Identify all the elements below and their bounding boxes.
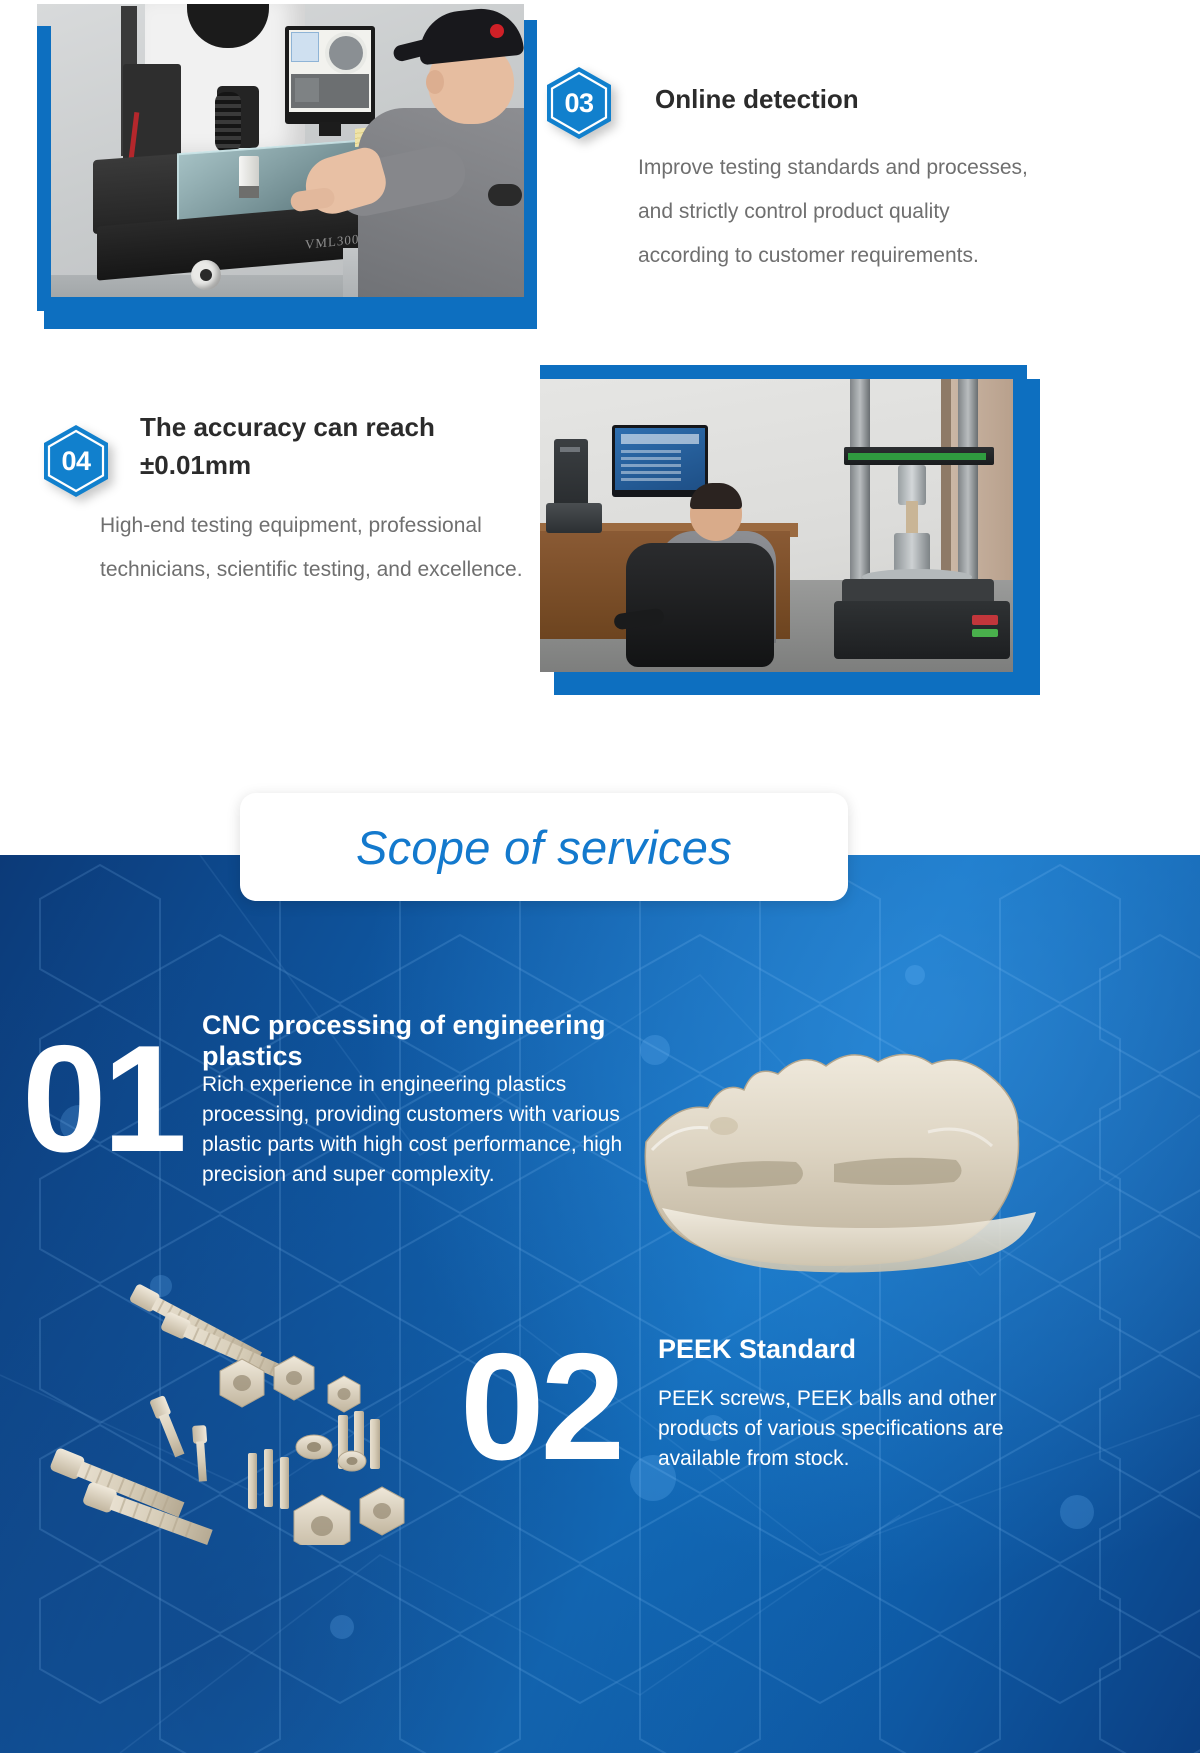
promo-page: VML300 bbox=[0, 0, 1200, 1753]
photo-left-accent bbox=[37, 26, 51, 311]
photo-bottom-accent bbox=[37, 297, 524, 311]
office-chair bbox=[626, 543, 774, 667]
service-number-01: 01 bbox=[22, 1023, 183, 1175]
photo-frame-online-detection: VML300 bbox=[37, 4, 537, 329]
monitor bbox=[285, 26, 375, 124]
service-title: CNC processing of engineering plastics bbox=[202, 1010, 634, 1072]
service-number-02: 02 bbox=[460, 1331, 621, 1483]
scope-of-services-banner: Scope of services bbox=[240, 793, 848, 901]
monitor-screen bbox=[289, 30, 371, 112]
service-title: PEEK Standard bbox=[658, 1334, 1068, 1365]
coiled-cable bbox=[215, 92, 241, 152]
feature-title: The accuracy can reach ±0.01mm bbox=[140, 408, 540, 484]
photo-top-accent bbox=[540, 365, 1027, 379]
image-peek-machined-part bbox=[628, 1046, 1078, 1296]
monitor-stand bbox=[319, 122, 341, 136]
hexagon-badge-icon: 03 bbox=[540, 64, 618, 142]
tensile-tester bbox=[840, 373, 1008, 657]
printer bbox=[546, 503, 602, 533]
operator bbox=[368, 8, 524, 311]
badge-number: 03 bbox=[540, 64, 618, 142]
feature-body: High-end testing equipment, professional… bbox=[100, 504, 540, 592]
feature-title: Online detection bbox=[655, 80, 1055, 118]
badge-number: 04 bbox=[37, 422, 115, 500]
service-body: PEEK screws, PEEK balls and other produc… bbox=[658, 1384, 1064, 1474]
photo-optical-measuring-machine: VML300 bbox=[37, 4, 524, 311]
photo-frame-accuracy bbox=[540, 365, 1040, 695]
feature-body: Improve testing standards and processes,… bbox=[638, 146, 1038, 278]
service-body: Rich experience in engineering plastics … bbox=[202, 1070, 630, 1190]
measured-part bbox=[239, 156, 259, 188]
image-peek-screws-and-nuts bbox=[42, 1275, 462, 1545]
photo-right-accent bbox=[1013, 365, 1027, 672]
top-white-section: VML300 bbox=[0, 0, 1200, 855]
hexagon-badge-icon: 04 bbox=[37, 422, 115, 500]
adjust-roller bbox=[191, 260, 221, 290]
photo-tensile-testing-machine bbox=[540, 365, 1027, 672]
monitor bbox=[612, 425, 708, 497]
banner-title: Scope of services bbox=[356, 820, 732, 875]
